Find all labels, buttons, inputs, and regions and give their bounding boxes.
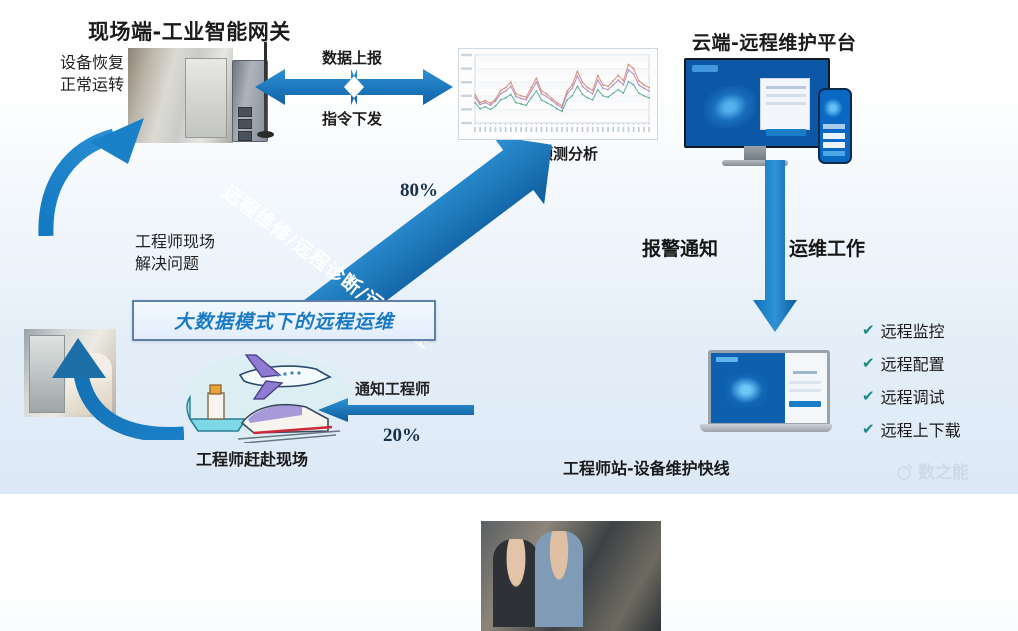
check-icon: ✔: [862, 422, 875, 437]
list-item: ✔ 远程调试: [862, 384, 961, 408]
banner-text: 大数据模式下的远程运维: [174, 307, 394, 334]
title-field-side: 现场端-工业智能网关: [88, 16, 291, 46]
label-data-upload: 数据上报: [322, 47, 382, 68]
label-notify-engineer: 通知工程师: [355, 378, 430, 399]
photo-engineers-at-desk: [481, 521, 661, 631]
arrow-recover-curved-up: [26, 112, 156, 236]
laptop-base: [700, 424, 832, 432]
photo-mobile-app: [818, 88, 852, 164]
banner-big-data-remote-ops: 大数据模式下的远程运维: [132, 300, 436, 341]
chart-thumbnail-prediction: [458, 48, 658, 140]
caption-transport: 工程师赶赴现场: [196, 446, 308, 470]
list-item: ✔ 远程监控: [862, 318, 961, 342]
check-icon: ✔: [862, 356, 875, 371]
illustration-transport-modes: [182, 345, 354, 443]
caption-engineer-station: 工程师站-设备维护快线: [563, 455, 730, 479]
bidirectional-data-arrow: [255, 66, 453, 108]
label-engineer-onsite: 工程师现场 解决问题: [135, 231, 215, 274]
label-command-dispatch: 指令下发: [322, 108, 382, 129]
arrow-notify-engineer-left: [318, 398, 474, 422]
watermark: 数之能: [896, 458, 969, 483]
title-cloud-side: 云端-远程维护平台: [692, 28, 856, 55]
label-ops-work: 运维工作: [789, 234, 865, 261]
remote-capability-checklist: ✔ 远程监控 ✔ 远程配置 ✔ 远程调试 ✔ 远程上下载: [862, 318, 961, 441]
watermark-text: 数之能: [918, 458, 969, 483]
list-item: ✔ 远程配置: [862, 351, 961, 375]
weibo-icon: [896, 462, 914, 480]
list-item: ✔ 远程上下载: [862, 417, 961, 441]
photo-laptop-maintenance-portal: [700, 350, 832, 432]
check-icon: ✔: [862, 389, 875, 404]
infographic-canvas: 现场端-工业智能网关 云端-远程维护平台 设备恢复 正常运转 数据上报 指令下发…: [0, 0, 1018, 494]
laptop-screen: [708, 350, 830, 426]
photo-cloud-platform-monitor: [684, 58, 830, 148]
label-percent-onsite: 20%: [383, 425, 421, 447]
label-device-recover: 设备恢复 正常运转: [60, 52, 124, 95]
list-item-label: 远程上下载: [881, 417, 961, 441]
check-icon: ✔: [862, 323, 875, 338]
label-alarm-notification: 报警通知: [642, 234, 718, 261]
list-item-label: 远程调试: [881, 384, 945, 408]
list-item-label: 远程配置: [881, 351, 945, 375]
label-percent-remote: 80%: [400, 180, 438, 202]
list-item-label: 远程监控: [881, 318, 945, 342]
